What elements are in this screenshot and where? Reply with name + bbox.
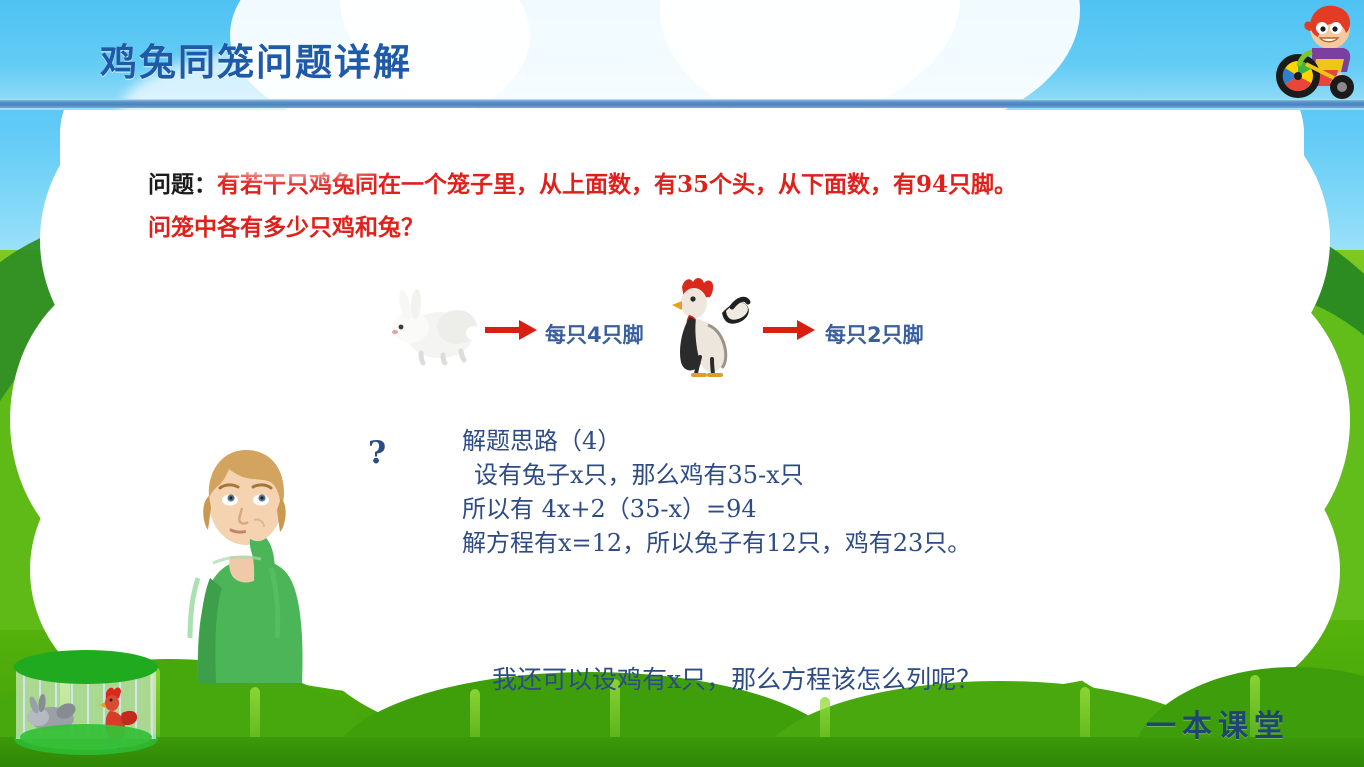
slide-canvas: 鸡兔同笼问题详解	[0, 0, 1364, 767]
solution-line-3: 解方程有x=12，所以兔子有12只，鸡有23只。	[462, 526, 1162, 560]
problem-label: 问题：	[148, 171, 217, 198]
rabbit-feet-label: 每只4只脚	[545, 319, 644, 349]
rabbit-photo	[385, 287, 480, 367]
slide-header: 鸡兔同笼问题详解	[0, 0, 1364, 110]
solution-heading: 解题思路（4）	[462, 424, 1162, 458]
followup-question: 我还可以设鸡有x只，那么方程该怎么列呢？	[492, 660, 981, 696]
header-divider	[0, 99, 1364, 108]
cage-with-rabbit-and-rooster	[6, 645, 166, 757]
problem-line-2: 问笼中各有多少只鸡和兔？	[148, 207, 1218, 250]
animal-feet-row: 每只4只脚 每只2只脚	[385, 275, 1005, 385]
solution-line-1: 设有兔子x只，那么鸡有35-x只	[462, 458, 1162, 492]
watermark: 一本课堂	[1146, 701, 1290, 745]
right-arrow-icon	[763, 317, 815, 343]
question-mark: ?	[368, 435, 386, 471]
solution-line-2: 所以有 4x+2（35-x）=94	[462, 492, 1162, 526]
rooster-photo	[660, 267, 755, 377]
thinking-boy-photo	[168, 428, 316, 683]
solution-block: 解题思路（4） 设有兔子x只，那么鸡有35-x只 所以有 4x+2（35-x）=…	[462, 424, 1162, 560]
rooster-feet-label: 每只2只脚	[825, 319, 924, 349]
right-arrow-icon	[485, 317, 537, 343]
page-title: 鸡兔同笼问题详解	[100, 44, 412, 81]
boy-on-tricycle-icon	[1272, 2, 1358, 102]
